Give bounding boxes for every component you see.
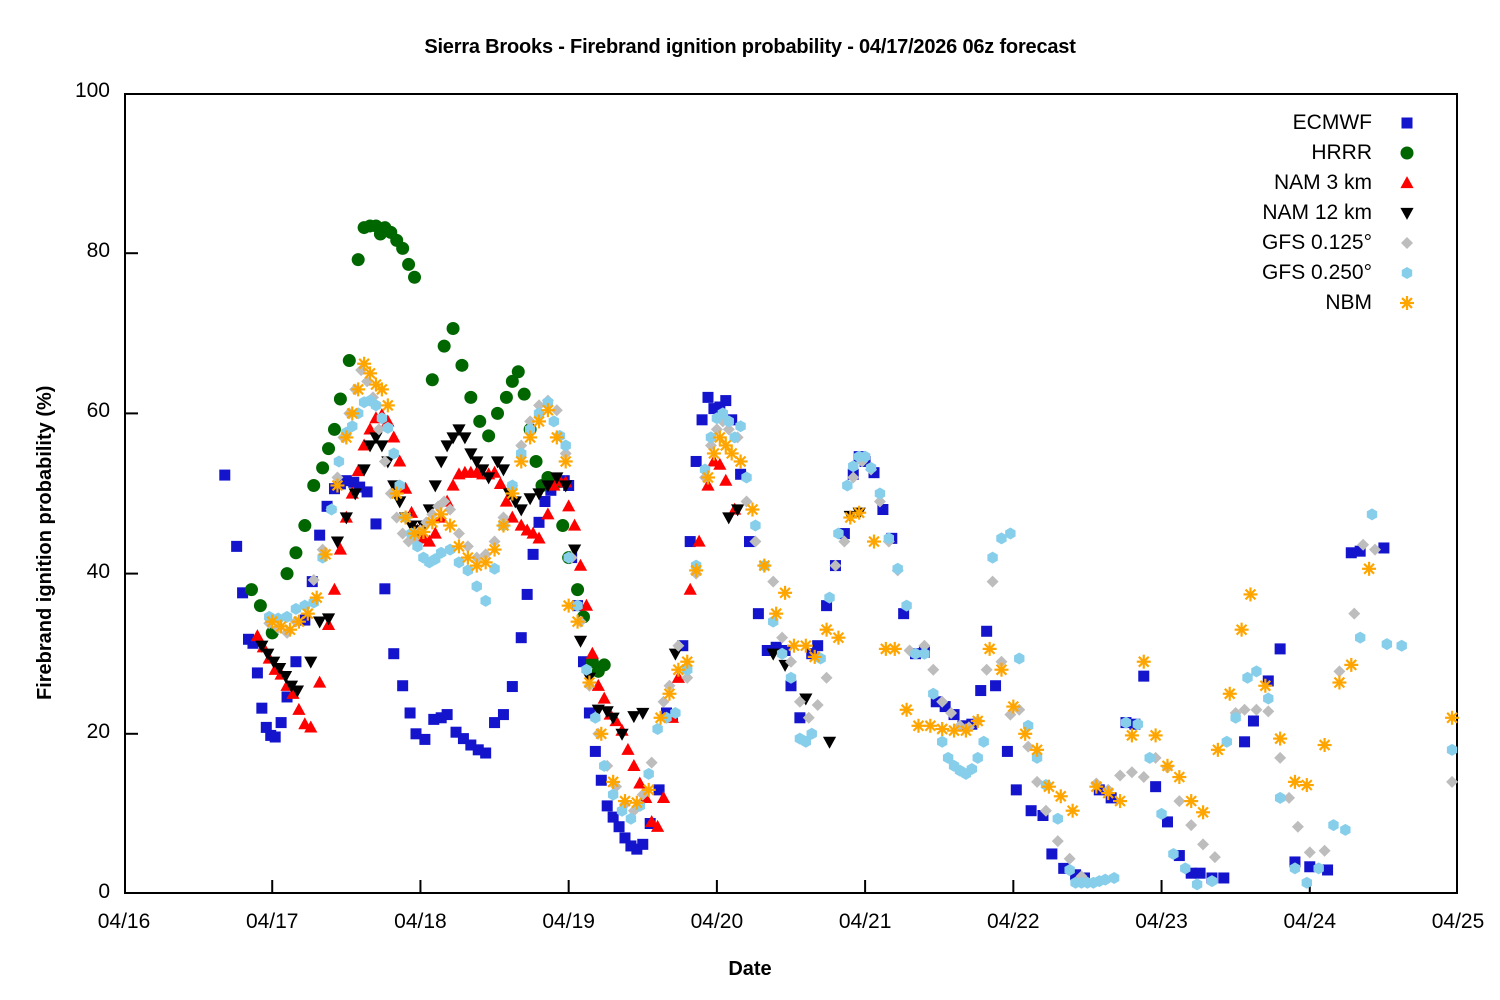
- data-point-asterisk: [301, 607, 315, 621]
- data-point-circle: [343, 354, 356, 367]
- legend-marker-square-icon: [1394, 110, 1420, 136]
- y-tick-label: 100: [40, 79, 110, 103]
- data-point-diamond: [821, 672, 833, 684]
- data-point-hexagon: [1396, 640, 1406, 652]
- data-point-asterisk: [375, 382, 389, 396]
- data-point-asterisk: [923, 719, 937, 733]
- data-point-asterisk: [1066, 804, 1080, 818]
- data-point-asterisk: [594, 727, 608, 741]
- legend-item-nam-3-km[interactable]: NAM 3 km: [1120, 168, 1420, 198]
- data-point-triangle-down: [524, 493, 537, 505]
- data-point-square: [522, 589, 533, 600]
- data-point-square: [370, 518, 381, 529]
- data-point-triangle-up: [719, 474, 732, 486]
- data-point-triangle-up: [627, 759, 640, 771]
- data-point-asterisk: [1054, 789, 1068, 803]
- data-point-triangle-up: [541, 507, 554, 519]
- data-point-circle: [491, 407, 504, 420]
- data-point-hexagon: [489, 563, 499, 575]
- data-point-circle: [328, 423, 341, 436]
- data-point-asterisk: [582, 676, 596, 690]
- data-point-diamond: [812, 699, 824, 711]
- legend-marker-triangle-up-icon: [1394, 170, 1420, 196]
- data-point-hexagon: [1355, 632, 1365, 644]
- data-point-square: [539, 496, 550, 507]
- data-point-asterisk: [1344, 658, 1358, 672]
- data-point-square: [528, 549, 539, 560]
- x-tick-label: 04/24: [1250, 910, 1370, 934]
- data-point-asterisk: [310, 591, 324, 605]
- data-point-square: [1026, 805, 1037, 816]
- data-point-square: [720, 395, 731, 406]
- data-point-square: [379, 583, 390, 594]
- data-point-square: [219, 470, 230, 481]
- data-point-asterisk: [319, 547, 333, 561]
- legend-label: ECMWF: [1293, 111, 1394, 135]
- data-point-square: [231, 541, 242, 552]
- data-point-asterisk: [630, 796, 644, 810]
- data-point-hexagon: [1005, 528, 1015, 540]
- data-point-asterisk: [571, 615, 585, 629]
- data-point-circle: [455, 359, 468, 372]
- data-point-asterisk: [351, 382, 365, 396]
- data-point-circle: [530, 455, 543, 468]
- data-point-asterisk: [935, 722, 949, 736]
- data-point-triangle-down: [435, 456, 448, 468]
- data-point-hexagon: [472, 580, 482, 592]
- data-point-square: [419, 734, 430, 745]
- y-tick-label: 80: [40, 239, 110, 263]
- data-point-circle: [254, 599, 267, 612]
- data-point-asterisk: [1196, 805, 1210, 819]
- data-point-asterisk: [541, 403, 555, 417]
- data-point-asterisk: [452, 539, 466, 553]
- data-point-square: [507, 681, 518, 692]
- data-point-asterisk: [1332, 676, 1346, 690]
- data-point-square: [975, 685, 986, 696]
- data-point-diamond: [1173, 795, 1185, 807]
- chart-legend: ECMWFHRRRNAM 3 kmNAM 12 kmGFS 0.125°GFS …: [1120, 108, 1420, 318]
- data-point-asterisk: [769, 607, 783, 621]
- data-point-hexagon: [291, 603, 301, 615]
- data-point-square: [1138, 671, 1149, 682]
- data-point-square: [812, 640, 823, 651]
- data-point-diamond: [1209, 851, 1221, 863]
- data-point-asterisk: [606, 775, 620, 789]
- data-point-circle: [464, 391, 477, 404]
- data-point-asterisk: [1288, 775, 1302, 789]
- data-point-asterisk: [390, 487, 404, 501]
- data-point-diamond: [981, 664, 993, 676]
- data-point-asterisk: [654, 711, 668, 725]
- data-point-asterisk: [532, 414, 546, 428]
- legend-item-nbm[interactable]: NBM: [1120, 288, 1420, 318]
- data-point-asterisk: [496, 519, 510, 533]
- data-point-circle: [571, 583, 584, 596]
- data-point-triangle-up: [429, 527, 442, 539]
- data-point-circle: [245, 583, 258, 596]
- data-point-triangle-down: [375, 440, 388, 452]
- data-point-diamond: [1126, 766, 1138, 778]
- data-point-hexagon: [1263, 693, 1273, 705]
- y-tick-label: 0: [40, 880, 110, 904]
- data-point-hexagon: [842, 479, 852, 491]
- chart-root: Sierra Brooks - Firebrand ignition proba…: [0, 0, 1500, 1000]
- y-tick-label: 20: [40, 720, 110, 744]
- series-gfs-0-250: [264, 395, 1457, 891]
- data-point-hexagon: [937, 736, 947, 748]
- data-point-triangle-down: [574, 636, 587, 648]
- data-point-asterisk: [707, 446, 721, 460]
- data-point-square: [1046, 848, 1057, 859]
- data-point-asterisk: [1137, 655, 1151, 669]
- data-point-circle: [322, 442, 335, 455]
- data-point-asterisk: [443, 519, 457, 533]
- data-point-triangle-up: [598, 692, 611, 704]
- data-point-diamond: [1052, 835, 1064, 847]
- data-point-triangle-down: [722, 512, 735, 524]
- data-point-asterisk: [745, 503, 759, 517]
- data-point-square: [697, 414, 708, 425]
- data-point-square: [1150, 781, 1161, 792]
- data-point-square: [1002, 746, 1013, 757]
- data-point-asterisk: [514, 454, 528, 468]
- data-point-diamond: [1446, 776, 1458, 788]
- data-point-square: [290, 656, 301, 667]
- data-point-triangle-up: [328, 583, 341, 595]
- data-point-triangle-up: [494, 477, 507, 489]
- data-point-asterisk: [1400, 296, 1414, 310]
- data-point-circle: [482, 429, 495, 442]
- data-point-triangle-up: [621, 743, 634, 755]
- data-point-square: [397, 680, 408, 691]
- data-point-hexagon: [480, 595, 490, 607]
- data-point-asterisk: [434, 507, 448, 521]
- data-point-square: [1402, 118, 1413, 129]
- data-point-asterisk: [734, 454, 748, 468]
- data-point-asterisk: [1089, 780, 1103, 794]
- data-point-triangle-down: [627, 711, 640, 723]
- data-point-asterisk: [339, 430, 353, 444]
- data-point-triangle-down: [669, 649, 682, 661]
- legend-label: NBM: [1325, 291, 1394, 315]
- data-point-square: [596, 775, 607, 786]
- data-point-hexagon: [1447, 744, 1457, 756]
- data-point-asterisk: [994, 663, 1008, 677]
- data-point-asterisk: [888, 642, 902, 656]
- data-point-asterisk: [1172, 770, 1186, 784]
- data-point-square: [753, 608, 764, 619]
- data-point-square: [388, 648, 399, 659]
- data-point-asterisk: [1042, 780, 1056, 794]
- data-point-diamond: [1138, 771, 1150, 783]
- legend-item-ecmwf[interactable]: ECMWF: [1120, 108, 1420, 138]
- data-point-square: [691, 456, 702, 467]
- data-point-asterisk: [1160, 759, 1174, 773]
- data-point-diamond: [1292, 821, 1304, 833]
- data-point-circle: [316, 461, 329, 474]
- data-point-circle: [473, 415, 486, 428]
- data-point-triangle-up: [562, 499, 575, 511]
- data-point-square: [1218, 872, 1229, 883]
- data-point-asterisk: [1113, 794, 1127, 808]
- data-point-diamond: [767, 576, 779, 588]
- data-point-diamond: [1274, 752, 1286, 764]
- data-point-square: [405, 707, 416, 718]
- y-tick-label: 40: [40, 560, 110, 584]
- data-point-triangle-up: [446, 479, 459, 491]
- data-point-asterisk: [1149, 728, 1163, 742]
- data-point-asterisk: [562, 599, 576, 613]
- data-point-square: [442, 709, 453, 720]
- data-point-asterisk: [345, 406, 359, 420]
- data-point-asterisk: [778, 586, 792, 600]
- data-point-asterisk: [689, 563, 703, 577]
- data-point-asterisk: [1243, 587, 1257, 601]
- data-point-hexagon: [1242, 672, 1252, 684]
- data-point-asterisk: [618, 794, 632, 808]
- data-point-asterisk: [642, 783, 656, 797]
- data-point-circle: [512, 365, 525, 378]
- data-point-triangle-down: [393, 496, 406, 508]
- data-point-asterisk: [505, 487, 519, 501]
- legend-marker-triangle-down-icon: [1394, 200, 1420, 226]
- data-point-hexagon: [1367, 508, 1377, 520]
- data-point-triangle-up: [568, 519, 581, 531]
- data-point-circle: [438, 340, 451, 353]
- x-tick-label: 04/22: [953, 910, 1073, 934]
- data-point-hexagon: [750, 520, 760, 532]
- data-point-asterisk: [1184, 794, 1198, 808]
- x-tick-label: 04/21: [805, 910, 925, 934]
- data-point-hexagon: [1328, 819, 1338, 831]
- legend-label: GFS 0.250°: [1262, 261, 1394, 285]
- data-point-hexagon: [334, 455, 344, 467]
- data-point-hexagon: [996, 532, 1006, 544]
- data-point-circle: [518, 388, 531, 401]
- data-point-circle: [598, 658, 611, 671]
- data-point-asterisk: [1258, 679, 1272, 693]
- data-point-triangle-down: [823, 737, 836, 749]
- data-point-asterisk: [971, 714, 985, 728]
- data-point-asterisk: [900, 703, 914, 717]
- data-point-asterisk: [808, 650, 822, 664]
- data-point-hexagon: [1109, 872, 1119, 884]
- data-point-asterisk: [1318, 738, 1332, 752]
- data-point-square: [637, 839, 648, 850]
- data-point-square: [602, 800, 613, 811]
- legend-label: NAM 3 km: [1274, 171, 1394, 195]
- data-point-hexagon: [1340, 824, 1350, 836]
- data-point-square: [981, 626, 992, 637]
- data-point-diamond: [927, 664, 939, 676]
- series-nbm: [265, 357, 1459, 820]
- data-point-asterisk: [1125, 728, 1139, 742]
- data-point-asterisk: [1030, 743, 1044, 757]
- data-point-square: [362, 486, 373, 497]
- data-point-triangle-down: [458, 432, 471, 444]
- data-point-square: [314, 530, 325, 541]
- data-point-asterisk: [852, 506, 866, 520]
- data-point-hexagon: [978, 736, 988, 748]
- data-point-asterisk: [983, 642, 997, 656]
- data-point-asterisk: [662, 687, 676, 701]
- data-point-triangle-up: [684, 583, 697, 595]
- data-point-square: [1248, 715, 1259, 726]
- legend-marker-diamond-icon: [1394, 230, 1420, 256]
- data-point-asterisk: [550, 430, 564, 444]
- data-point-asterisk: [559, 454, 573, 468]
- data-point-circle: [402, 258, 415, 271]
- data-point-circle: [500, 391, 513, 404]
- data-point-asterisk: [1223, 687, 1237, 701]
- x-tick-label: 04/20: [657, 910, 777, 934]
- data-point-hexagon: [1402, 267, 1412, 279]
- data-point-hexagon: [987, 552, 997, 564]
- data-point-diamond: [1197, 838, 1209, 850]
- data-point-hexagon: [1251, 665, 1261, 677]
- data-point-asterisk: [1273, 732, 1287, 746]
- data-point-hexagon: [1014, 653, 1024, 665]
- x-tick-label: 04/18: [360, 910, 480, 934]
- x-tick-label: 04/19: [509, 910, 629, 934]
- data-point-circle: [289, 546, 302, 559]
- data-point-asterisk: [1300, 778, 1314, 792]
- data-point-diamond: [1304, 846, 1316, 858]
- data-point-hexagon: [1382, 638, 1392, 650]
- data-point-hexagon: [893, 563, 903, 575]
- data-point-circle: [396, 242, 409, 255]
- data-point-asterisk: [399, 511, 413, 525]
- data-point-circle: [281, 567, 294, 580]
- legend-item-hrrr[interactable]: HRRR: [1120, 138, 1420, 168]
- data-point-diamond: [658, 696, 670, 708]
- data-point-square: [480, 748, 491, 759]
- legend-label: HRRR: [1311, 141, 1394, 165]
- data-point-square: [498, 709, 509, 720]
- data-point-asterisk: [523, 430, 537, 444]
- x-tick-label: 04/25: [1398, 910, 1500, 934]
- data-point-square: [1195, 868, 1206, 879]
- data-point-square: [990, 680, 1001, 691]
- data-point-diamond: [1319, 845, 1331, 857]
- x-tick-label: 04/23: [1102, 910, 1222, 934]
- data-point-asterisk: [680, 655, 694, 669]
- x-tick-label: 04/17: [212, 910, 332, 934]
- data-point-diamond: [1185, 819, 1197, 831]
- y-axis-title: Firebrand ignition probability (%): [34, 386, 57, 700]
- data-point-asterisk: [479, 555, 493, 569]
- data-point-asterisk: [330, 478, 344, 492]
- data-point-asterisk: [1006, 700, 1020, 714]
- data-point-asterisk: [959, 724, 973, 738]
- data-point-square: [252, 667, 263, 678]
- data-point-asterisk: [1445, 711, 1459, 725]
- data-point-asterisk: [488, 543, 502, 557]
- data-point-hexagon: [549, 415, 559, 427]
- data-point-triangle-up: [292, 703, 305, 715]
- legend-item-nam-12-km[interactable]: NAM 12 km: [1120, 198, 1420, 228]
- data-point-asterisk: [1101, 786, 1115, 800]
- data-point-circle: [298, 519, 311, 532]
- data-point-circle: [447, 322, 460, 335]
- data-point-circle: [556, 519, 569, 532]
- data-point-diamond: [1333, 665, 1345, 677]
- data-point-asterisk: [701, 470, 715, 484]
- data-point-triangle-down: [304, 657, 317, 669]
- data-point-square: [270, 732, 281, 743]
- legend-marker-hexagon-icon: [1394, 260, 1420, 286]
- data-point-triangle-down: [1400, 208, 1413, 220]
- legend-label: NAM 12 km: [1262, 201, 1394, 225]
- data-point-asterisk: [1362, 562, 1376, 576]
- data-point-asterisk: [820, 623, 834, 637]
- data-point-asterisk: [799, 639, 813, 653]
- y-tick-label: 60: [40, 399, 110, 423]
- data-point-asterisk: [831, 631, 845, 645]
- data-point-hexagon: [1145, 752, 1155, 764]
- data-point-diamond: [1114, 769, 1126, 781]
- legend-label: GFS 0.125°: [1262, 231, 1394, 255]
- data-point-square: [256, 703, 267, 714]
- data-point-hexagon: [1192, 878, 1202, 890]
- data-point-hexagon: [644, 768, 654, 780]
- data-point-triangle-down: [441, 440, 454, 452]
- data-point-diamond: [1262, 705, 1274, 717]
- data-point-triangle-down: [429, 480, 442, 492]
- data-point-asterisk: [381, 398, 395, 412]
- data-point-triangle-up: [586, 647, 599, 659]
- x-axis-title: Date: [0, 958, 1500, 981]
- data-point-circle: [334, 392, 347, 405]
- data-point-diamond: [1401, 237, 1413, 249]
- data-point-hexagon: [1275, 792, 1285, 804]
- data-point-square: [702, 392, 713, 403]
- axis-ticks: [124, 253, 1310, 894]
- data-point-square: [614, 821, 625, 832]
- legend-marker-asterisk-icon: [1394, 290, 1420, 316]
- data-point-square: [1011, 784, 1022, 795]
- data-point-square: [590, 746, 601, 757]
- data-point-triangle-down: [515, 504, 528, 516]
- data-point-asterisk: [1018, 727, 1032, 741]
- data-point-hexagon: [875, 488, 885, 500]
- data-point-asterisk: [1211, 743, 1225, 757]
- data-point-circle: [1401, 147, 1414, 160]
- data-point-square: [1275, 643, 1286, 654]
- legend-item-gfs-0-125[interactable]: GFS 0.125°: [1120, 228, 1420, 258]
- data-point-hexagon: [973, 752, 983, 764]
- data-point-asterisk: [757, 559, 771, 573]
- legend-marker-circle-icon: [1394, 140, 1420, 166]
- data-point-triangle-up: [1400, 176, 1413, 188]
- data-point-diamond: [646, 757, 658, 769]
- legend-item-gfs-0-250[interactable]: GFS 0.250°: [1120, 258, 1420, 288]
- data-point-diamond: [1348, 608, 1360, 620]
- data-point-diamond: [1250, 704, 1262, 716]
- data-point-square: [1378, 542, 1389, 553]
- data-point-hexagon: [1053, 813, 1063, 825]
- data-point-square: [276, 717, 287, 728]
- data-point-diamond: [987, 576, 999, 588]
- data-point-circle: [352, 253, 365, 266]
- data-point-circle: [426, 373, 439, 386]
- data-point-asterisk: [867, 535, 881, 549]
- data-point-square: [516, 632, 527, 643]
- data-point-square: [1239, 736, 1250, 747]
- data-point-hexagon: [652, 723, 662, 735]
- data-point-asterisk: [1235, 623, 1249, 637]
